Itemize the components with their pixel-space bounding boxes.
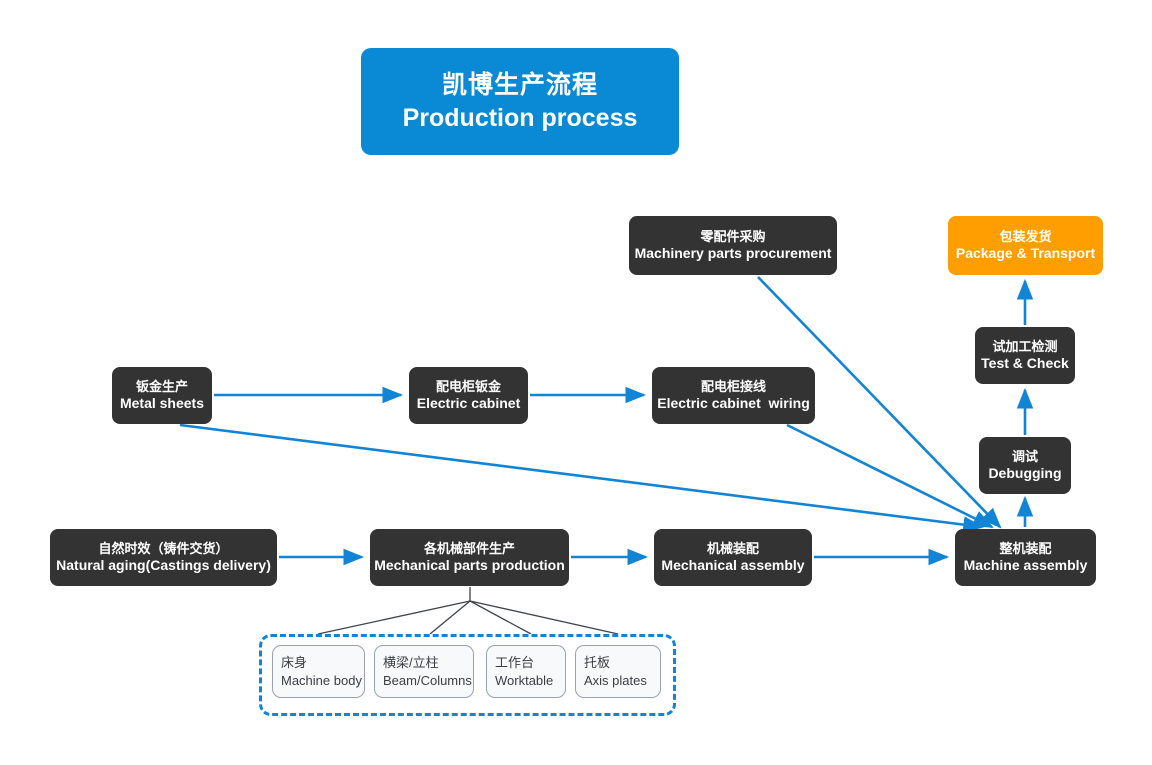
- node-natural-aging[interactable]: 自然时效（铸件交货） Natural aging(Castings delive…: [50, 529, 277, 586]
- edge-metal-sheets-to-machine-assembly: [180, 425, 982, 527]
- node-label-cn: 机械装配: [707, 541, 759, 557]
- subnode-label-cn: 床身: [281, 654, 307, 672]
- subnode-label-cn: 工作台: [495, 654, 534, 672]
- node-electric-cabinet[interactable]: 配电柜钣金 Electric cabinet: [409, 367, 528, 424]
- node-label-en: Test & Check: [981, 355, 1069, 373]
- subnode-label-en: Worktable: [495, 672, 553, 690]
- node-label-cn: 调试: [1012, 449, 1038, 465]
- subnode-beam-columns[interactable]: 横梁/立柱 Beam/Columns: [374, 645, 474, 698]
- subnode-label-en: Axis plates: [584, 672, 647, 690]
- node-label-cn: 试加工检测: [992, 339, 1057, 355]
- node-label-en: Machine assembly: [964, 557, 1088, 575]
- node-label-en: Mechanical assembly: [661, 557, 804, 575]
- node-test-check[interactable]: 试加工检测 Test & Check: [975, 327, 1075, 384]
- node-label-cn: 自然时效（铸件交货）: [98, 541, 228, 557]
- node-label-cn: 包装发货: [999, 229, 1051, 245]
- node-mechanical-assembly[interactable]: 机械装配 Mechanical assembly: [654, 529, 812, 586]
- node-mechanical-parts-production[interactable]: 各机械部件生产 Mechanical parts production: [370, 529, 569, 586]
- subnode-machine-body[interactable]: 床身 Machine body: [272, 645, 365, 698]
- subnode-label-en: Beam/Columns: [383, 672, 472, 690]
- node-label-cn: 各机械部件生产: [424, 541, 515, 557]
- subnode-label-cn: 横梁/立柱: [383, 654, 439, 672]
- node-label-en: Debugging: [988, 465, 1061, 483]
- node-label-cn: 零配件采购: [700, 229, 765, 245]
- node-electric-cabinet-wiring[interactable]: 配电柜接线 Electric cabinet wiring: [652, 367, 815, 424]
- node-label-en: Electric cabinet wiring: [657, 395, 810, 413]
- subnode-label-cn: 托板: [584, 654, 610, 672]
- node-label-cn: 钣金生产: [136, 379, 188, 395]
- node-label-en: Machinery parts procurement: [635, 245, 832, 263]
- node-label-en: Electric cabinet: [417, 395, 521, 413]
- node-label-en: Natural aging(Castings delivery): [56, 557, 271, 575]
- node-label-cn: 配电柜钣金: [436, 379, 501, 395]
- node-label-en: Package & Transport: [956, 245, 1095, 263]
- node-label-en: Metal sheets: [120, 395, 204, 413]
- node-package-transport[interactable]: 包装发货 Package & Transport: [948, 216, 1103, 275]
- node-machine-assembly[interactable]: 整机装配 Machine assembly: [955, 529, 1096, 586]
- node-label-en: Mechanical parts production: [374, 557, 565, 575]
- node-metal-sheets[interactable]: 钣金生产 Metal sheets: [112, 367, 212, 424]
- page-title-banner: 凯博生产流程 Production process: [361, 48, 679, 155]
- flowchart-canvas: 凯博生产流程 Production process 零配件采购 Machiner…: [0, 0, 1152, 765]
- node-debugging[interactable]: 调试 Debugging: [979, 437, 1071, 494]
- subnode-worktable[interactable]: 工作台 Worktable: [486, 645, 566, 698]
- banner-title-cn: 凯博生产流程: [442, 69, 598, 102]
- subnode-label-en: Machine body: [281, 672, 362, 690]
- node-label-cn: 配电柜接线: [701, 379, 766, 395]
- node-parts-procurement[interactable]: 零配件采购 Machinery parts procurement: [629, 216, 837, 275]
- subnode-axis-plates[interactable]: 托板 Axis plates: [575, 645, 661, 698]
- edge-wiring-to-machine-assembly: [787, 425, 992, 527]
- banner-title-en: Production process: [403, 102, 638, 135]
- node-label-cn: 整机装配: [999, 541, 1051, 557]
